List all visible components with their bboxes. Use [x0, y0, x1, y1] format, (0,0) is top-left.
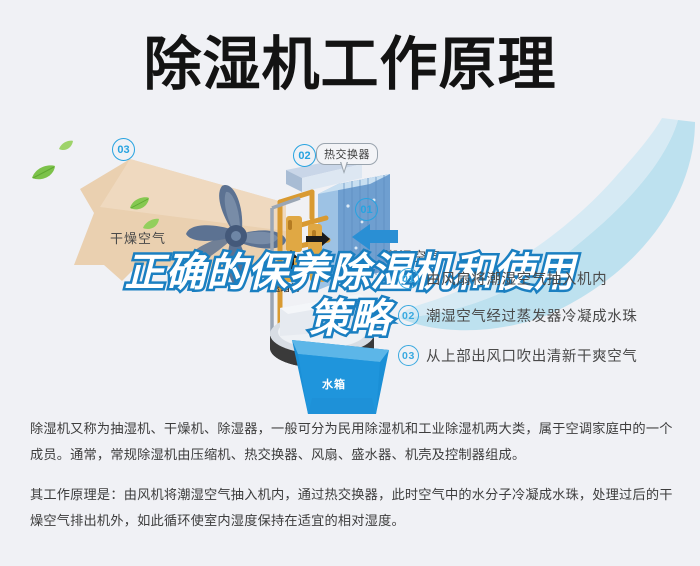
leaf-icon — [30, 164, 56, 182]
caption-text-03: 从上部出风口吹出清新干爽空气 — [426, 345, 637, 366]
body-paragraph-1: 除湿机又称为抽湿机、干燥机、除湿器，一般可分为民用除湿机和工业除湿机两大类，属于… — [30, 416, 675, 468]
caption-badge-03: 03 — [398, 345, 419, 366]
diagram-badge-02: 02 — [293, 144, 316, 167]
water-tank-label: 水箱 — [322, 376, 346, 392]
dry-air-label: 干燥空气 — [110, 228, 166, 247]
caption-02: 02 潮湿空气经过蒸发器冷凝成水珠 — [398, 305, 637, 326]
overlay-headline: 正确的保养除湿机和使用 策略 — [0, 250, 700, 342]
diagram-badge-01: 01 — [355, 198, 378, 221]
leaf-icon — [128, 196, 150, 212]
callout-tail-icon — [340, 162, 348, 174]
leaf-icon — [58, 140, 74, 152]
caption-03: 03 从上部出风口吹出清新干爽空气 — [398, 345, 637, 366]
diagram-badge-03: 03 — [112, 138, 135, 161]
body-paragraph-2: 其工作原理是：由风机将潮湿空气抽入机内，通过热交换器，此时空气中的水分子冷凝成水… — [30, 482, 675, 534]
caption-badge-01: 01 — [398, 268, 419, 289]
page-root: 除湿机工作原理 — [0, 0, 700, 566]
air-inlet-arrow-icon — [352, 224, 398, 250]
page-title-part2: 工作原理 — [321, 32, 557, 97]
caption-text-02: 潮湿空气经过蒸发器冷凝成水珠 — [426, 305, 637, 326]
page-title-part1: 除湿机 — [143, 32, 320, 97]
body-copy: 除湿机又称为抽湿机、干燥机、除湿器，一般可分为民用除湿机和工业除湿机两大类，属于… — [30, 416, 675, 548]
caption-text-01: 由风扇将潮湿空气抽入机内 — [426, 268, 607, 289]
caption-badge-02: 02 — [398, 305, 419, 326]
page-title: 除湿机工作原理 — [0, 30, 700, 100]
caption-01: 01 由风扇将潮湿空气抽入机内 — [398, 268, 607, 289]
